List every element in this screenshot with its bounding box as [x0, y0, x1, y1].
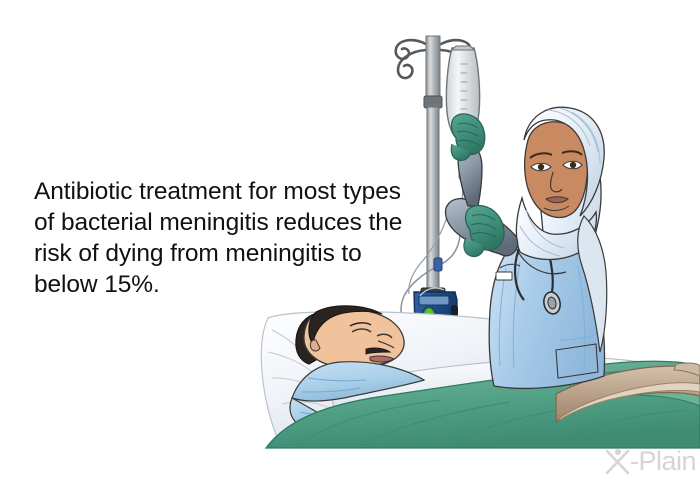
roller-clamp [434, 258, 442, 271]
caption-text: Antibiotic treatment for most types of b… [34, 176, 414, 300]
watermark-label: -Plain [630, 448, 696, 475]
x-plain-watermark: -Plain [605, 444, 696, 478]
slide-canvas: Antibiotic treatment for most types of b… [0, 0, 700, 480]
x-plain-figure-mark [605, 446, 631, 476]
